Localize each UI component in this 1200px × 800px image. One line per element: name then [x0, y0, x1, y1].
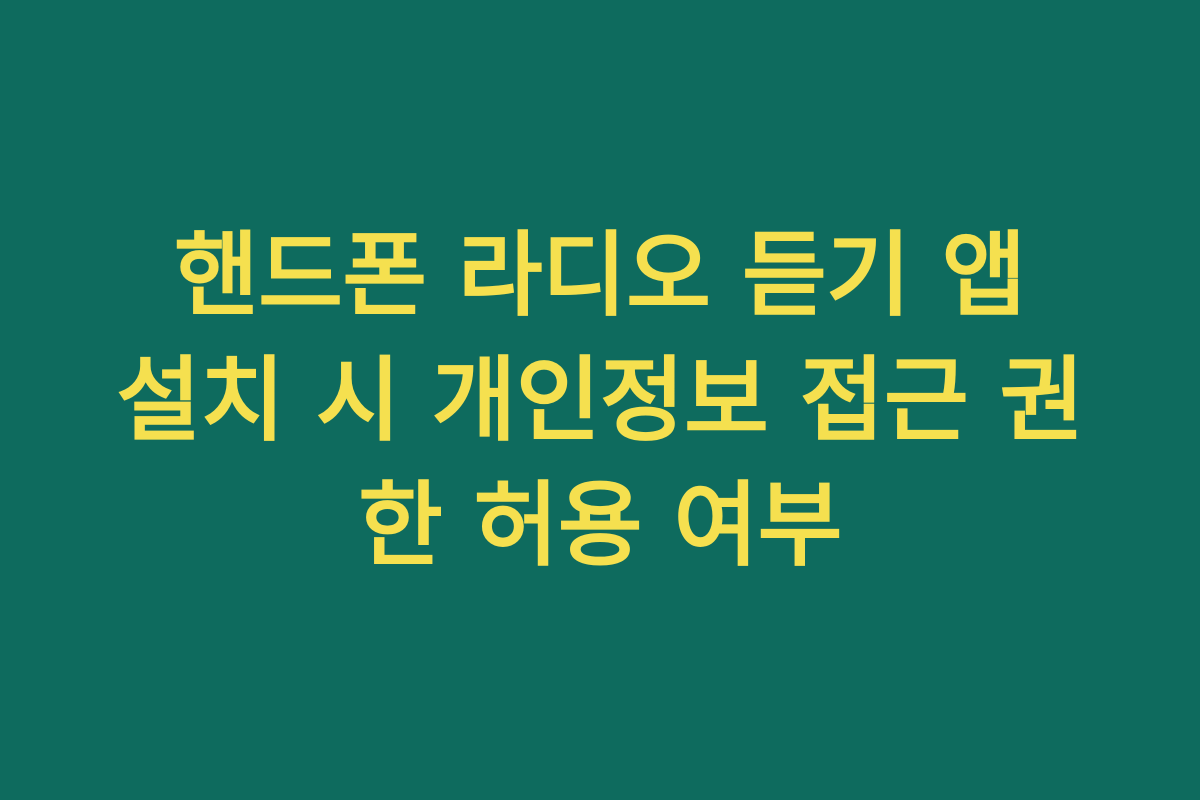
page-title: 핸드폰 라디오 듣기 앱 설치 시 개인정보 접근 권 한 허용 여부	[70, 213, 1130, 588]
thumbnail-card: 핸드폰 라디오 듣기 앱 설치 시 개인정보 접근 권 한 허용 여부	[0, 0, 1200, 800]
headline-line-2: 설치 시 개인정보 접근 권	[70, 338, 1130, 463]
headline-line-3: 한 허용 여부	[70, 463, 1130, 588]
headline-line-1: 핸드폰 라디오 듣기 앱	[70, 213, 1130, 338]
